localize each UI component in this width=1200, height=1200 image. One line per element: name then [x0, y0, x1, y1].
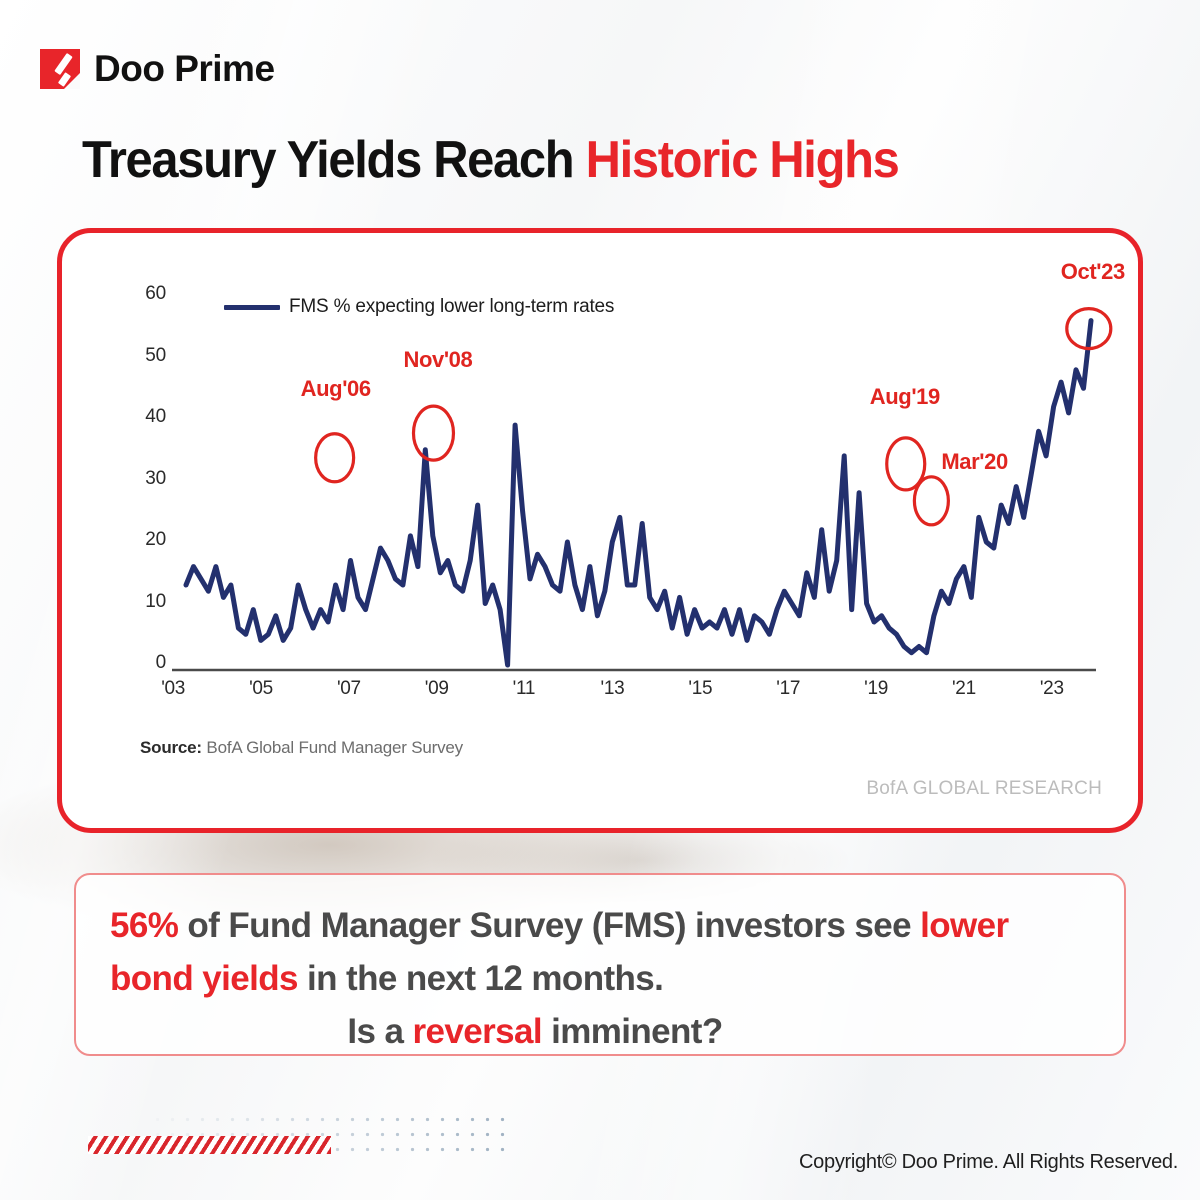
x-tick-05: '05	[249, 678, 273, 700]
page-title: Treasury Yields Reach Historic Highs	[82, 130, 899, 190]
x-tick-19: '19	[864, 678, 888, 700]
callout-box: 56% of Fund Manager Survey (FMS) investo…	[74, 873, 1126, 1056]
x-tick-13: '13	[601, 678, 625, 700]
y-tick-20: 20	[118, 529, 166, 551]
doo-prime-logo-icon	[40, 49, 80, 89]
callout-seg4: in the next 12 months.	[298, 959, 663, 998]
x-tick-21: '21	[952, 678, 976, 700]
callout-line2-c: imminent?	[542, 1012, 723, 1051]
stripe-bar-decoration	[88, 1136, 331, 1154]
x-tick-09: '09	[425, 678, 449, 700]
annotation-circle-nov08	[413, 406, 453, 460]
callout-line2-a: Is a	[347, 1012, 412, 1051]
annotation-nov08: Nov'08	[403, 347, 472, 373]
y-tick-40: 40	[118, 406, 166, 428]
source-value: BofA Global Fund Manager Survey	[202, 738, 463, 757]
x-tick-17: '17	[776, 678, 800, 700]
brand-header: Doo Prime	[40, 48, 275, 90]
x-tick-23: '23	[1040, 678, 1064, 700]
y-tick-30: 30	[118, 468, 166, 490]
legend-label-fms: FMS % expecting lower long-term rates	[289, 296, 614, 318]
callout-percent: 56%	[110, 906, 178, 945]
page-title-part2: Historic Highs	[586, 131, 899, 189]
annotation-circles	[316, 309, 1111, 525]
brand-name: Doo Prime	[94, 48, 275, 90]
annotation-aug19: Aug'19	[870, 384, 940, 410]
y-tick-10: 10	[118, 591, 166, 613]
series-line-fms	[186, 321, 1091, 665]
annotation-circle-aug06	[316, 434, 354, 482]
source-label: Source:	[140, 738, 202, 757]
y-tick-0: 0	[118, 652, 166, 674]
callout-question: Is a reversal imminent?	[110, 1005, 1090, 1058]
poster-root: Doo Prime Treasury Yields Reach Historic…	[0, 0, 1200, 1200]
callout-reversal: reversal	[412, 1012, 542, 1051]
y-tick-50: 50	[118, 345, 166, 367]
chart-credit: BofA GLOBAL RESEARCH	[866, 778, 1102, 800]
chart-source: Source: BofA Global Fund Manager Survey	[140, 738, 463, 758]
x-tick-11: '11	[513, 678, 535, 700]
page-title-part1: Treasury Yields Reach	[82, 131, 586, 189]
x-tick-07: '07	[337, 678, 361, 700]
legend-swatch-fms	[224, 305, 280, 310]
annotation-oct23: Oct'23	[1061, 259, 1125, 285]
annotation-mar20: Mar'20	[941, 449, 1007, 475]
annotation-circle-mar20	[914, 477, 948, 525]
callout-text: 56% of Fund Manager Survey (FMS) investo…	[110, 899, 1090, 1059]
x-tick-15: '15	[688, 678, 712, 700]
annotation-aug06: Aug'06	[301, 376, 371, 402]
callout-seg2: of Fund Manager Survey (FMS) investors s…	[178, 906, 920, 945]
x-tick-03: '03	[161, 678, 185, 700]
y-tick-60: 60	[118, 283, 166, 305]
chart-legend: FMS % expecting lower long-term rates	[224, 296, 614, 318]
copyright-text: Copyright© Doo Prime. All Rights Reserve…	[799, 1151, 1178, 1174]
